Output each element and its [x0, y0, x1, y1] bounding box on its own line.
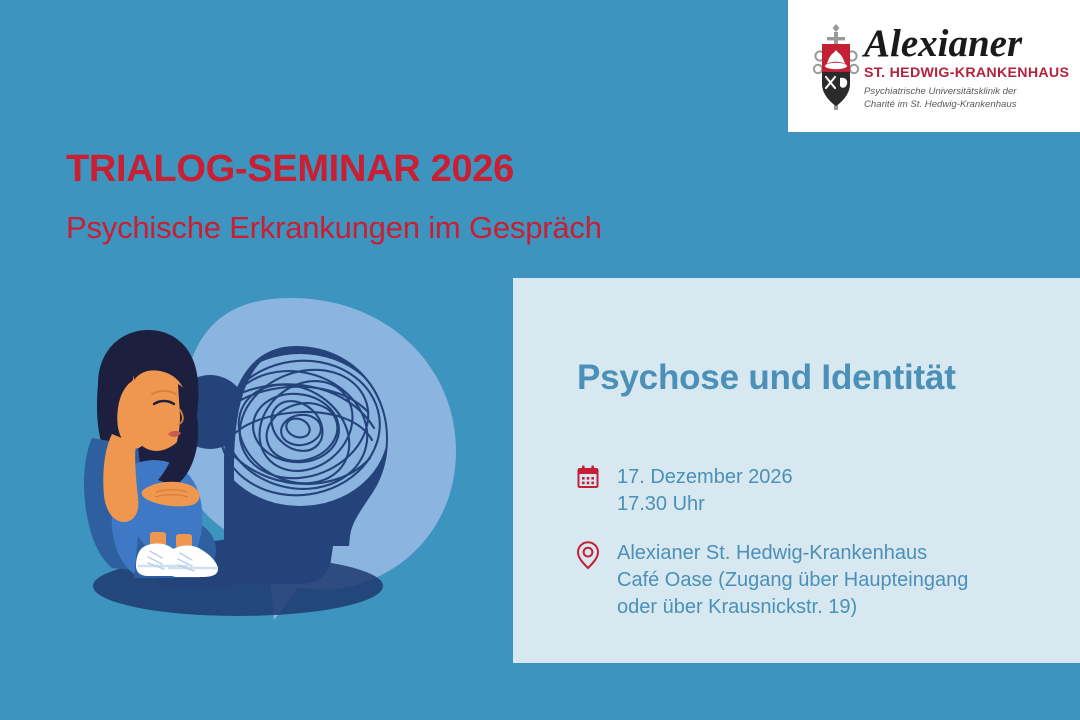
event-info-panel: Psychose und Identität 17. Dezem: [513, 278, 1080, 663]
logo-subtitle: ST. HEDWIG-KRANKENHAUS: [864, 65, 1070, 81]
event-location-line2: Café Oase (Zugang über Haupteingang: [617, 567, 968, 594]
alexianer-logo-box: Alexianer ST. HEDWIG-KRANKENHAUS Psychia…: [788, 0, 1080, 132]
headline-block: TRIALOG-SEMINAR 2026 Psychische Erkranku…: [66, 148, 766, 246]
headline-subtitle: Psychische Erkrankungen im Gespräch: [66, 210, 766, 246]
event-location-line3: oder über Krausnickstr. 19): [617, 594, 968, 621]
event-date-line2: 17.30 Uhr: [617, 491, 793, 518]
coat-of-arms-icon: [810, 22, 862, 114]
event-title: Psychose und Identität: [577, 358, 956, 398]
logo-tagline-line2: Charité im St. Hedwig-Krankenhaus: [864, 99, 1070, 112]
logo-tagline-line1: Psychiatrische Universitätsklinik der: [864, 86, 1070, 99]
poster-canvas: Alexianer ST. HEDWIG-KRANKENHAUS Psychia…: [0, 0, 1080, 720]
event-location-line1: Alexianer St. Hedwig-Krankenhaus: [617, 540, 968, 567]
calendar-icon: [575, 464, 601, 494]
illustration-seated-woman: [38, 288, 468, 628]
event-date-line1: 17. Dezember 2026: [617, 464, 793, 491]
logo-name: Alexianer: [864, 24, 1070, 64]
event-location-row: Alexianer St. Hedwig-Krankenhaus Café Oa…: [575, 540, 968, 621]
headline-main: TRIALOG-SEMINAR 2026: [66, 148, 766, 190]
event-date-row: 17. Dezember 2026 17.30 Uhr: [575, 464, 793, 518]
map-pin-icon: [575, 540, 601, 570]
